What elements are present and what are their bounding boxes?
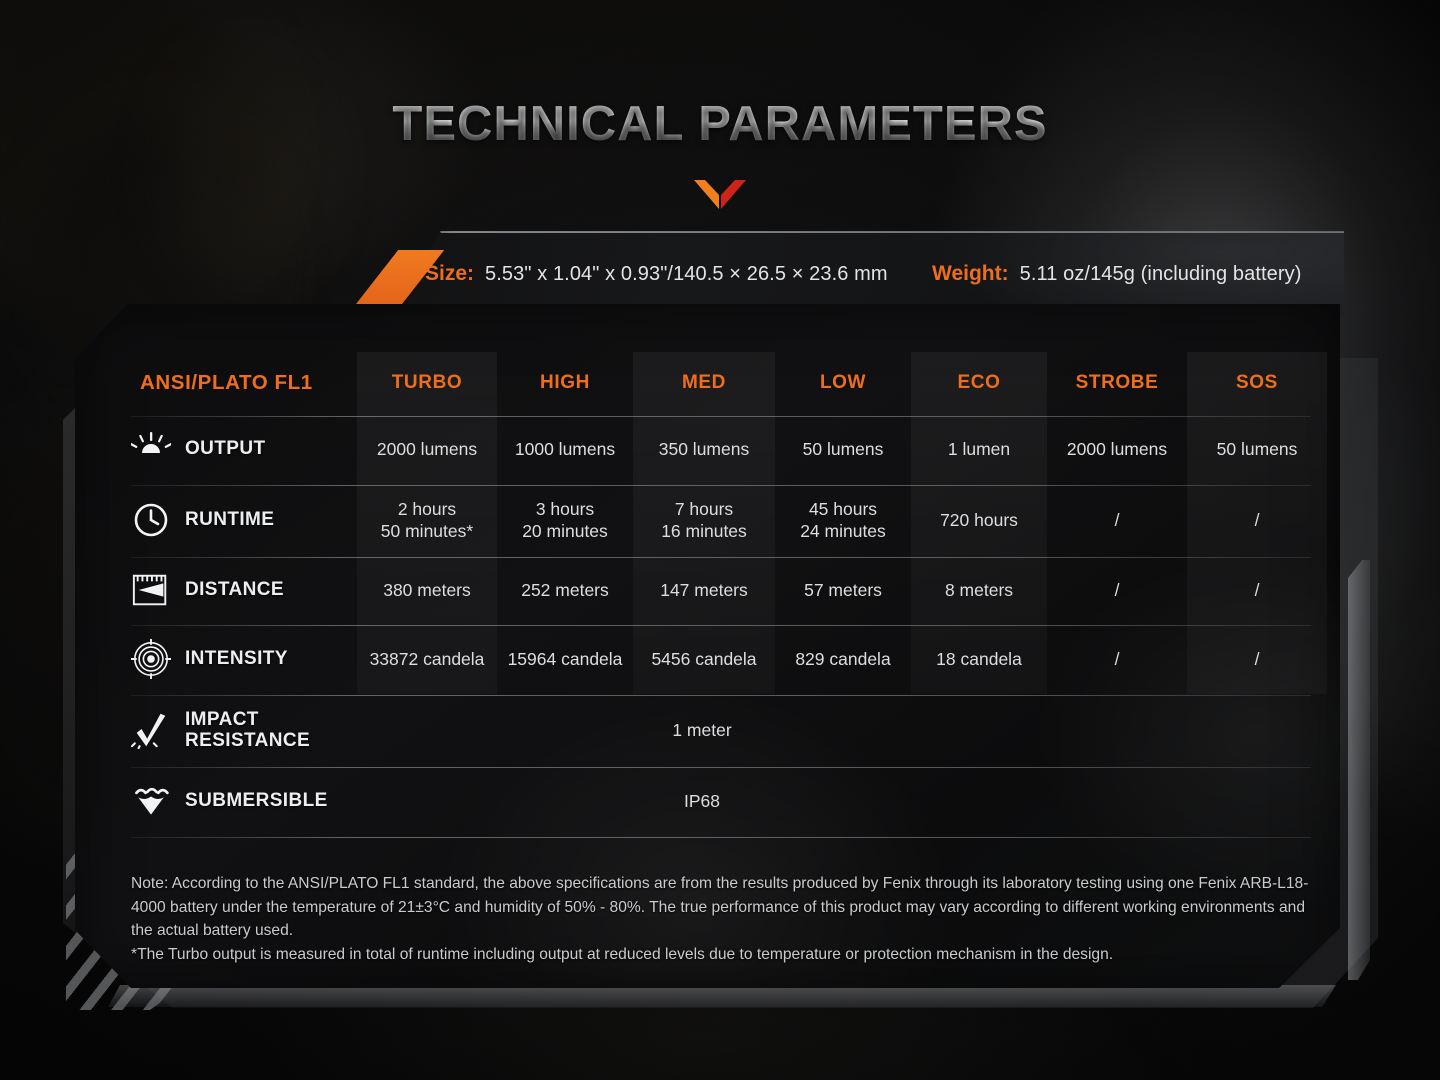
table-row: INTENSITY33872 candela15964 candela5456 …	[75, 624, 1340, 694]
cell-value-line: 50 lumens	[1217, 438, 1298, 460]
table-row: DISTANCE380 meters252 meters147 meters57…	[75, 556, 1340, 624]
cell-value: 33872 candela	[357, 624, 497, 694]
cell-value-line: /	[1115, 509, 1120, 531]
table-row: IMPACTRESISTANCE1 meter	[75, 694, 1340, 766]
cell-value: 1 lumen	[911, 414, 1047, 484]
decorative-bottom-bar	[108, 985, 1348, 1007]
column-header-med: MED	[633, 352, 775, 414]
row-label-output: OUTPUT	[75, 414, 357, 484]
row-label-text: DISTANCE	[185, 579, 284, 601]
water-drop-icon	[131, 781, 171, 821]
cell-value-line: 7 hours	[675, 498, 733, 520]
chevron-down-icon	[0, 178, 1440, 217]
beam-distance-icon	[131, 570, 171, 610]
row-divider	[131, 837, 1311, 838]
cell-value-line: 18 candela	[936, 648, 1022, 670]
table-row: SUBMERSIBLEIP68	[75, 766, 1340, 836]
row-label-distance: DISTANCE	[75, 556, 357, 624]
background-rock-shape	[0, 0, 270, 310]
weight-label: Weight:	[932, 262, 1009, 286]
cell-value: 7 hours16 minutes	[633, 484, 775, 556]
row-label-text: RUNTIME	[185, 509, 274, 531]
cell-value-line: /	[1115, 648, 1120, 670]
cell-value-line: 829 candela	[795, 648, 890, 670]
cell-value: /	[1047, 556, 1187, 624]
table-row: OUTPUT2000 lumens1000 lumens350 lumens50…	[75, 414, 1340, 484]
cell-value: 50 lumens	[775, 414, 911, 484]
cell-value: 380 meters	[357, 556, 497, 624]
footnote-line-2: *The Turbo output is measured in total o…	[131, 943, 1329, 967]
weight-value: 5.11 oz/145g (including battery)	[1020, 263, 1302, 286]
row-label-runtime: RUNTIME	[75, 484, 357, 556]
cell-value: /	[1187, 484, 1327, 556]
footnote: Note: According to the ANSI/PLATO FL1 st…	[131, 872, 1329, 967]
cell-value-line: 16 minutes	[661, 520, 747, 542]
cell-value: 57 meters	[775, 556, 911, 624]
row-label-text: INTENSITY	[185, 648, 288, 670]
cell-value-line: 147 meters	[660, 579, 748, 601]
background-rock-shape	[170, 60, 320, 280]
cell-value-line: 252 meters	[521, 579, 609, 601]
cell-value-line: 720 hours	[940, 509, 1018, 531]
cell-value-line: 2000 lumens	[377, 438, 477, 460]
cell-value-line: 350 lumens	[659, 438, 749, 460]
cell-value-line: 45 hours	[809, 498, 877, 520]
footnote-line-1: Note: According to the ANSI/PLATO FL1 st…	[131, 872, 1329, 943]
row-label-text: OUTPUT	[185, 438, 266, 460]
size-value: 5.53" x 1.04" x 0.93"/140.5 × 26.5 × 23.…	[485, 263, 888, 286]
cell-value: 5456 candela	[633, 624, 775, 694]
column-header-ansi-plato-fl1: ANSI/PLATO FL1	[75, 352, 357, 414]
cell-value: 50 lumens	[1187, 414, 1327, 484]
target-intensity-icon	[131, 639, 171, 679]
cell-value: 3 hours20 minutes	[497, 484, 633, 556]
cell-value-line: 5456 candela	[651, 648, 756, 670]
cell-value: 147 meters	[633, 556, 775, 624]
cell-value: 18 candela	[911, 624, 1047, 694]
impact-drop-icon	[131, 710, 171, 750]
cell-value: /	[1047, 484, 1187, 556]
page-title-container: TECHNICAL PARAMETERS	[0, 96, 1440, 152]
cell-value: 829 candela	[775, 624, 911, 694]
cell-value-line: 57 meters	[804, 579, 882, 601]
table-header-row: ANSI/PLATO FL1TURBOHIGHMEDLOWECOSTROBESO…	[75, 352, 1340, 414]
clock-icon	[131, 500, 171, 540]
column-header-eco: ECO	[911, 352, 1047, 414]
cell-value: IP68	[357, 766, 1047, 836]
cell-value: 1000 lumens	[497, 414, 633, 484]
cell-value: 2000 lumens	[357, 414, 497, 484]
cell-value-line: 1000 lumens	[515, 438, 615, 460]
row-label-text: IMPACTRESISTANCE	[185, 709, 310, 752]
cell-value-line: 24 minutes	[800, 520, 886, 542]
cell-value-line: /	[1115, 579, 1120, 601]
cell-value-line: 2000 lumens	[1067, 438, 1167, 460]
cell-value: /	[1187, 556, 1327, 624]
row-label-submersible: SUBMERSIBLE	[75, 766, 357, 836]
cell-value: 2 hours50 minutes*	[357, 484, 497, 556]
cell-value-line: /	[1255, 509, 1260, 531]
cell-value: 252 meters	[497, 556, 633, 624]
cell-value-line: 1 lumen	[948, 438, 1010, 460]
cell-value-line: 2 hours	[398, 498, 456, 520]
cell-value: 15964 candela	[497, 624, 633, 694]
cell-value: 720 hours	[911, 484, 1047, 556]
specifications-table: ANSI/PLATO FL1TURBOHIGHMEDLOWECOSTROBESO…	[75, 304, 1340, 988]
column-header-low: LOW	[775, 352, 911, 414]
cell-value: 45 hours24 minutes	[775, 484, 911, 556]
page-title: TECHNICAL PARAMETERS	[392, 96, 1047, 152]
cell-value-line: /	[1255, 579, 1260, 601]
sunburst-icon	[131, 429, 171, 469]
cell-value-line: 15964 candela	[508, 648, 623, 670]
cell-value: 2000 lumens	[1047, 414, 1187, 484]
cell-value-line: 50 lumens	[803, 438, 884, 460]
size-label: Size:	[425, 262, 474, 286]
row-label-intensity: INTENSITY	[75, 624, 357, 694]
table-row: RUNTIME2 hours50 minutes*3 hours20 minut…	[75, 484, 1340, 556]
column-header-strobe: STROBE	[1047, 352, 1187, 414]
cell-value-line: 20 minutes	[522, 520, 608, 542]
row-label-impact-resistance: IMPACTRESISTANCE	[75, 694, 357, 766]
cell-value: /	[1187, 624, 1327, 694]
decorative-right-rail	[1348, 560, 1370, 980]
cell-value-line: 8 meters	[945, 579, 1013, 601]
cell-value: 1 meter	[357, 694, 1047, 766]
cell-value-line: 50 minutes*	[381, 520, 473, 542]
column-header-high: HIGH	[497, 352, 633, 414]
row-label-text: SUBMERSIBLE	[185, 790, 328, 812]
cell-value: 8 meters	[911, 556, 1047, 624]
page-background: TECHNICAL PARAMETERS Size: 5.53" x 1.04"…	[0, 0, 1440, 1080]
column-header-turbo: TURBO	[357, 352, 497, 414]
cell-value-line: 380 meters	[383, 579, 471, 601]
cell-value: /	[1047, 624, 1187, 694]
cell-value-line: 3 hours	[536, 498, 594, 520]
column-header-sos: SOS	[1187, 352, 1327, 414]
cell-value-line: /	[1255, 648, 1260, 670]
cell-value-line: 33872 candela	[370, 648, 485, 670]
cell-value: 350 lumens	[633, 414, 775, 484]
